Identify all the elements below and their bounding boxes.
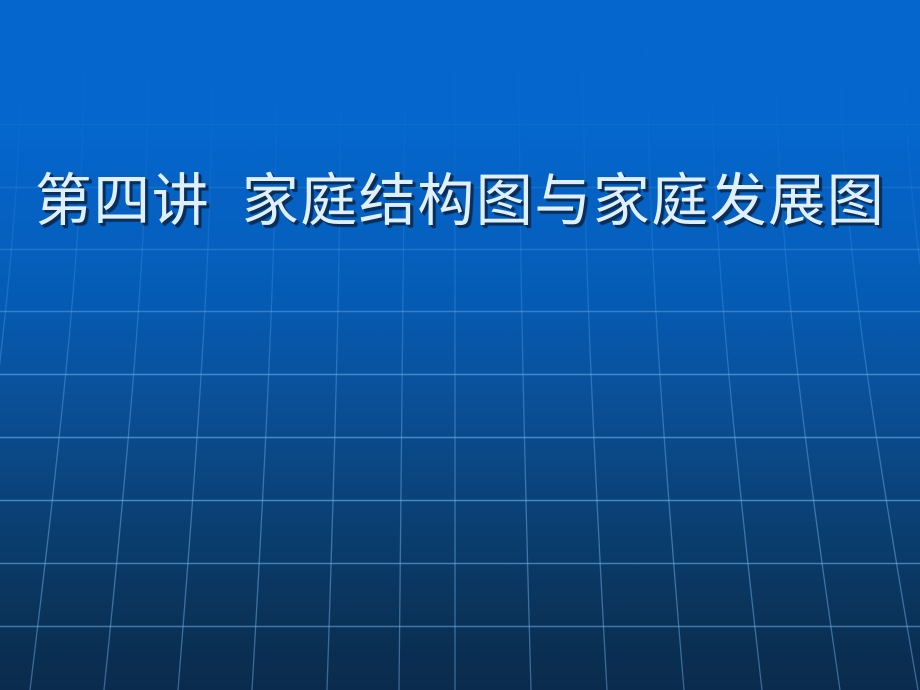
slide-title-block: 第四讲 家庭结构图与家庭发展图 [0, 168, 920, 235]
presentation-slide: 第四讲 家庭结构图与家庭发展图 [0, 0, 920, 690]
globe-grid-background [0, 0, 920, 690]
page-title: 第四讲 家庭结构图与家庭发展图 [26, 168, 894, 235]
meridian-lines [0, 0, 920, 690]
